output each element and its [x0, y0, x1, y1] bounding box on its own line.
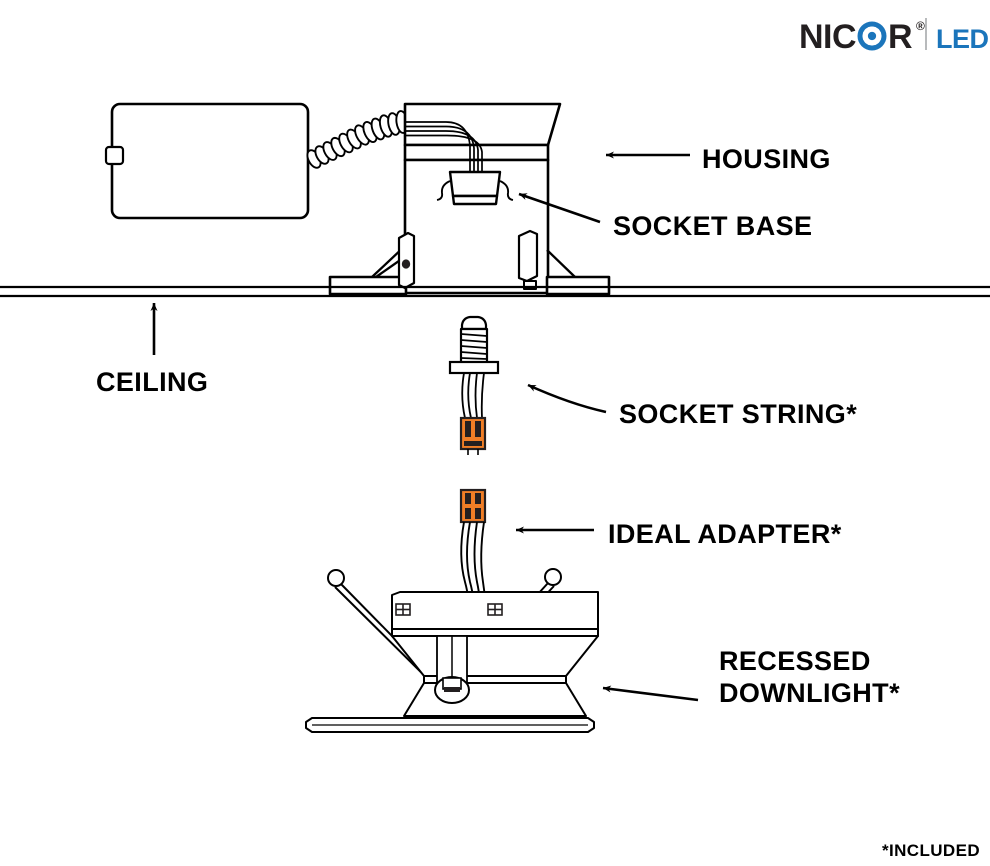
housing-brace-right	[547, 250, 575, 277]
housing-clip-right	[519, 231, 537, 281]
housing-flange-left	[330, 277, 406, 294]
downlight-reflector-upper	[392, 636, 598, 676]
diagram-page: NIC	[0, 0, 990, 866]
label-socket-string: SOCKET STRING*	[619, 399, 857, 429]
socket-string-connector	[461, 418, 485, 449]
label-ceiling: CEILING	[96, 367, 208, 397]
logo-registered-mark: ®	[916, 19, 925, 33]
socket-string-tip	[462, 317, 486, 329]
downlight-body-lip	[392, 629, 598, 636]
housing-clip-left-screw	[402, 259, 410, 268]
label-socket-base: SOCKET BASE	[613, 211, 812, 241]
junction-box-knockout-tab	[106, 147, 123, 164]
label-footnote: *INCLUDED	[882, 841, 980, 860]
housing-flange-right	[547, 277, 609, 294]
socket-base-body	[450, 172, 500, 196]
logo-sub-brand-text: LED	[936, 24, 989, 54]
recessed-downlight-arrow	[603, 688, 698, 700]
flex-conduit	[305, 110, 409, 170]
junction-box-body	[112, 104, 308, 218]
nicor-led-logo: NIC	[799, 18, 989, 56]
downlight-reflector-lower	[404, 683, 586, 716]
label-recessed-downlight-line2: DOWNLIGHT*	[719, 678, 900, 708]
housing-top-face	[405, 104, 560, 145]
recessed-downlight	[306, 569, 598, 732]
starburst-o-icon	[858, 22, 887, 51]
component-diagram: NIC	[0, 0, 990, 866]
label-ideal-adapter: IDEAL ADAPTER*	[608, 519, 842, 549]
housing-band	[405, 145, 548, 160]
ideal-adapter-connector	[461, 490, 485, 522]
logo-brand-text: NIC	[799, 18, 856, 56]
logo-brand-tail-text: R	[888, 18, 912, 56]
socket-base-rim	[453, 196, 497, 204]
downlight-trim-ring	[306, 718, 594, 732]
junction-box	[106, 104, 308, 218]
socket-string-arrow	[528, 385, 606, 412]
label-recessed-downlight-line1: RECESSED	[719, 646, 871, 676]
downlight-center-hub	[435, 677, 469, 703]
socket-string	[450, 317, 498, 455]
label-housing: HOUSING	[702, 144, 831, 174]
socket-string-flange	[450, 362, 498, 373]
